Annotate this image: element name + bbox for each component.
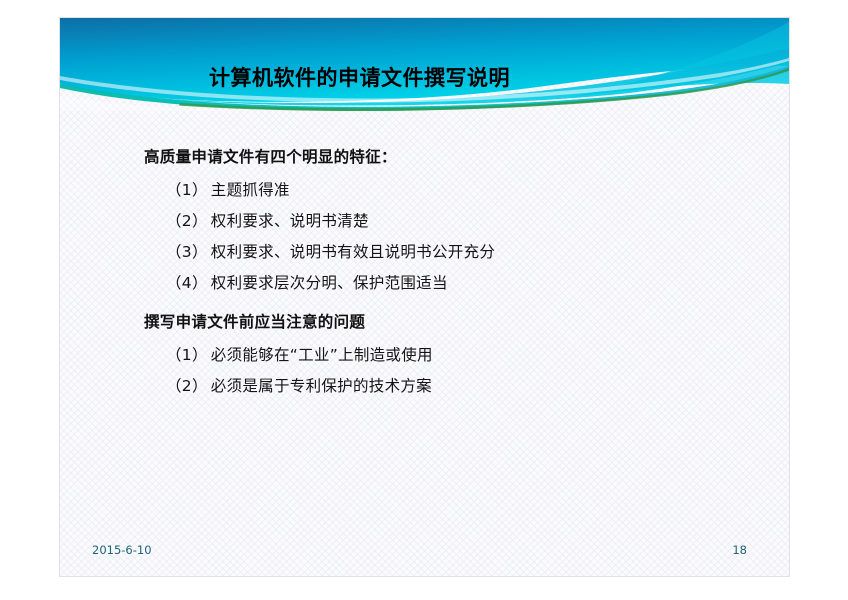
list-item-number: （4） (166, 274, 208, 292)
section-heading-2: 撰写申请文件前应当注意的问题 (144, 307, 744, 337)
footer-page-number: 18 (732, 543, 747, 557)
list-item-number: （1） (166, 181, 208, 199)
list-item-number: （3） (166, 243, 208, 261)
slide-canvas: 计算机软件的申请文件撰写说明 高质量申请文件有四个明显的特征： （1）主题抓得准… (60, 18, 789, 576)
list-item-text: 权利要求、说明书有效且说明书公开充分 (211, 243, 495, 261)
list-item-number: （2） (166, 377, 208, 395)
content-body: 高质量申请文件有四个明显的特征： （1）主题抓得准 （2）权利要求、说明书清楚 … (144, 142, 744, 402)
list-item-text: 必须能够在“工业”上制造或使用 (211, 346, 433, 364)
list-item: （2）必须是属于专利保护的技术方案 (166, 371, 744, 402)
list-item: （3）权利要求、说明书有效且说明书公开充分 (166, 237, 744, 268)
page-title: 计算机软件的申请文件撰写说明 (60, 62, 789, 92)
list-item-text: 权利要求层次分明、保护范围适当 (211, 274, 448, 292)
list-item-number: （2） (166, 212, 208, 230)
section-heading-1: 高质量申请文件有四个明显的特征： (144, 142, 744, 172)
list-item: （2）权利要求、说明书清楚 (166, 206, 744, 237)
list-item-text: 权利要求、说明书清楚 (211, 212, 369, 230)
list-item: （1）必须能够在“工业”上制造或使用 (166, 340, 744, 371)
list-item-text: 必须是属于专利保护的技术方案 (211, 377, 432, 395)
list-item: （1）主题抓得准 (166, 175, 744, 206)
list-item-number: （1） (166, 346, 208, 364)
list-item-text: 主题抓得准 (211, 181, 290, 199)
footer-date: 2015-6-10 (92, 543, 152, 557)
list-item: （4）权利要求层次分明、保护范围适当 (166, 268, 744, 299)
